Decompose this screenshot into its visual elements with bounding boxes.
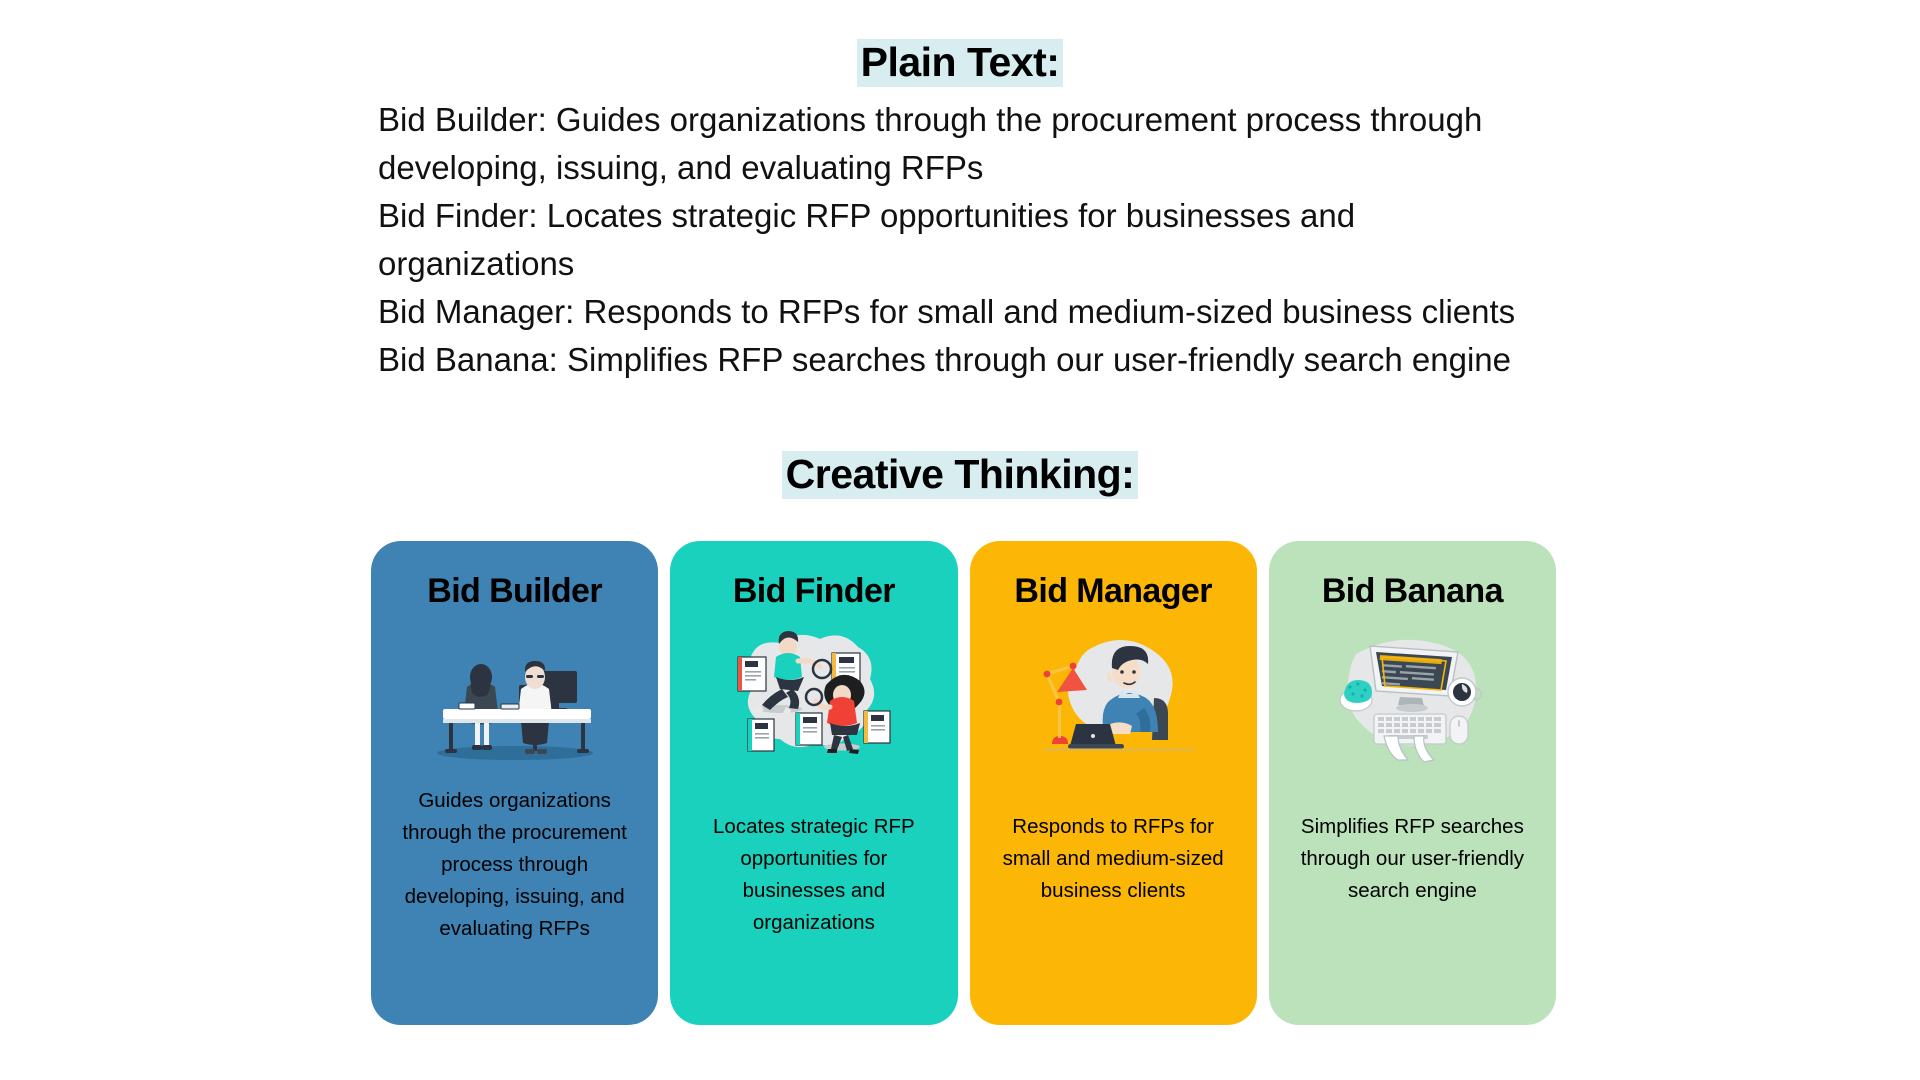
card-title-bid-manager: Bid Manager: [1014, 541, 1211, 611]
card-title-bid-builder: Bid Builder: [427, 541, 602, 611]
product-card-bid-finder[interactable]: Bid Finder: [670, 541, 957, 1025]
plain-text-line-bid-finder: Bid Finder: Locates strategic RFP opport…: [378, 192, 1558, 288]
plain-text-heading-label: Plain Text:: [857, 39, 1064, 87]
card-description-wrap-bid-banana: Simplifies RFP searches through our user…: [1269, 769, 1556, 1025]
creative-thinking-heading-label: Creative Thinking:: [782, 451, 1139, 499]
card-description-bid-builder: Guides organizations through the procure…: [371, 785, 658, 945]
creative-thinking-heading: Creative Thinking:: [0, 450, 1920, 498]
card-description-wrap-bid-manager: Responds to RFPs for small and medium-si…: [970, 769, 1257, 1025]
card-title-bid-banana: Bid Banana: [1322, 541, 1503, 611]
plain-text-body: Bid Builder: Guides organizations throug…: [378, 96, 1558, 384]
plain-text-line-bid-manager: Bid Manager: Responds to RFPs for small …: [378, 288, 1558, 336]
people-searching-documents-icon: [670, 619, 957, 769]
plain-text-heading: Plain Text:: [0, 38, 1920, 86]
card-description-bid-banana: Simplifies RFP searches through our user…: [1269, 811, 1556, 907]
product-card-grid: Bid Builder: [371, 541, 1556, 1025]
plain-text-line-bid-banana: Bid Banana: Simplifies RFP searches thro…: [378, 336, 1558, 384]
card-title-bid-finder: Bid Finder: [733, 541, 895, 611]
man-at-laptop-with-lamp-icon: [970, 619, 1257, 769]
desk-top-down-monitor-keyboard-icon: [1269, 619, 1556, 769]
product-card-bid-manager[interactable]: Bid Manager: [970, 541, 1257, 1025]
product-card-bid-builder[interactable]: Bid Builder: [371, 541, 658, 1025]
card-description-bid-finder: Locates strategic RFP opportunities for …: [670, 811, 957, 939]
slide-canvas: Plain Text: Bid Builder: Guides organiza…: [0, 0, 1920, 1080]
card-description-bid-manager: Responds to RFPs for small and medium-si…: [970, 811, 1257, 907]
two-people-at-desk-icon: [371, 619, 658, 769]
card-description-wrap-bid-finder: Locates strategic RFP opportunities for …: [670, 769, 957, 1025]
product-card-bid-banana[interactable]: Bid Banana: [1269, 541, 1556, 1025]
plain-text-line-bid-builder: Bid Builder: Guides organizations throug…: [378, 96, 1558, 192]
card-description-wrap-bid-builder: Guides organizations through the procure…: [371, 769, 658, 1025]
